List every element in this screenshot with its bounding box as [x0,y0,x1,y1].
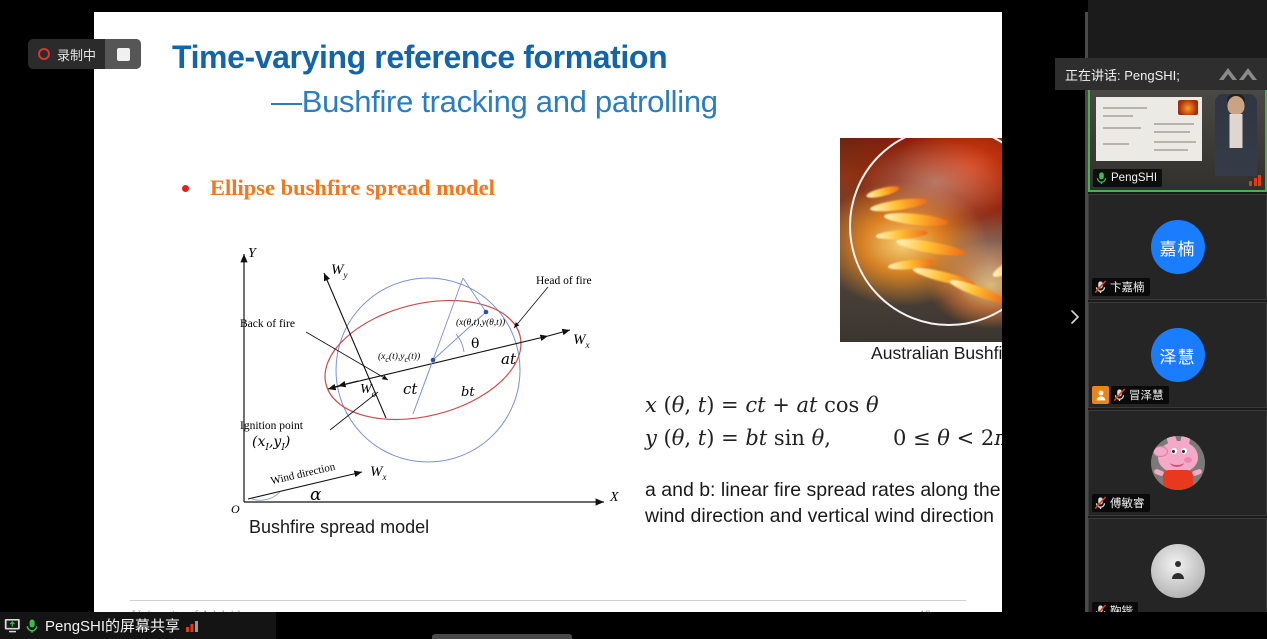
avatar-initials: 嘉楠 [1160,235,1196,260]
equation-x: x (θ, t) = ct + at cos θ [645,393,879,417]
microphone-on-icon [1095,171,1108,185]
avatar-photo-glyph [1169,560,1187,580]
diagram-label-wx-right: Wx [573,332,590,350]
diagram-caption: Bushfire spread model [249,517,429,538]
participant-name: 冒泽慧 [1129,387,1164,403]
microphone-icon [25,618,39,634]
signal-bars-icon [1249,175,1261,186]
slide-footer-divider [130,600,966,601]
diagram-label-axis-x: X [610,490,619,506]
diagram-label-wx-bottom: Wx [370,464,387,482]
equation-y: y (θ, t) = bt sin θ,0 ≤ θ < 2π [645,426,1002,450]
host-person-icon [1092,386,1109,404]
participant-rail: PengSHI 嘉楠 卞嘉楠 泽慧 [1088,0,1267,612]
avatar: 泽慧 [1151,328,1205,382]
recording-indicator[interactable]: 录制中 [28,39,141,69]
share-status-label: PengSHI的屏幕共享 [45,615,180,636]
bushfire-spread-diagram: Y X O Wind direction α Wx Wy Wx Wo Back … [218,240,638,540]
participant-name-badge: 卞嘉楠 [1092,278,1150,296]
photo-caption: Australian Bushfire [840,343,1002,364]
participant-tile-pengshi[interactable]: PengSHI [1088,86,1267,192]
diagram-label-ignition-point: Ignition point [240,420,303,432]
diagram-label-alpha: α [310,485,321,505]
diagram-label-head-of-fire: Head of fire [536,275,592,287]
shared-screen-slide: Time-varying reference formation —Bushfi… [94,12,1002,622]
participant-tile-fuminrui[interactable]: 傅敏睿 [1088,410,1267,516]
avatar-initials: 泽慧 [1160,343,1196,368]
slide-title-line2: —Bushfire tracking and patrolling [271,84,718,120]
avatar [1151,544,1205,598]
diagram-label-wo: Wo [360,382,376,399]
microphone-muted-icon [1094,280,1107,294]
slide-title-line1: Time-varying reference formation [172,39,667,76]
participant-tile-bianjianan[interactable]: 嘉楠 卞嘉楠 [1088,194,1267,300]
participant-name: PengSHI [1111,172,1157,184]
slide-bullet: Ellipse bushfire spread model [182,175,495,201]
diagram-label-center-point: (xc(t),yc(t)) [378,352,420,364]
chevron-right-icon [1070,310,1080,324]
microphone-muted-icon [1094,496,1107,510]
signal-bars-icon [186,619,202,632]
diagram-label-back-of-fire: Back of fire [240,318,295,330]
avatar [1151,436,1205,490]
participant-name-badge: 傅敏睿 [1092,494,1150,512]
participant-name: 卞嘉楠 [1110,279,1145,295]
diagram-label-wy: Wy [331,262,348,280]
bullet-dot-icon [182,185,189,192]
recording-label: 录制中 [57,45,96,64]
bottom-strip [276,612,1267,639]
diagram-label-ct: ct [403,380,417,398]
stop-square-icon [117,48,130,61]
recording-status: 录制中 [28,39,105,69]
screen-share-status-bar[interactable]: PengSHI的屏幕共享 [0,612,276,639]
equation-description: a and b: linear fire spread rates along … [645,478,1002,529]
participant-name: 傅敏睿 [1110,495,1145,511]
diagram-label-at: at [501,350,516,368]
diagram-label-theta-point: (x(θ,t),y(θ,t)) [456,318,505,328]
zoom-meeting-window: Time-varying reference formation —Bushfi… [0,0,1267,639]
zoom-logo-icon [1219,66,1259,82]
avatar: 嘉楠 [1151,220,1205,274]
stop-recording-button[interactable] [105,39,141,69]
diagram-label-origin: O [231,502,240,517]
microphone-muted-icon [1113,388,1126,402]
screen-share-icon [4,618,21,633]
participant-tile-maozehui[interactable]: 泽慧 冒泽慧 [1088,302,1267,408]
participant-tile-jukai[interactable]: 鞠锴 [1088,518,1267,624]
participant-name-badge: PengSHI [1093,169,1162,187]
presenter-figure [1215,94,1257,176]
participant-name-badge: 冒泽慧 [1111,386,1169,404]
record-dot-icon [38,48,50,60]
diagram-label-ignition-coords: (xI,yI) [252,434,290,453]
active-speaker-text: 正在讲话: PengSHI; [1065,65,1180,84]
australian-bushfire-photo [840,138,1002,342]
diagram-label-theta: θ [471,336,479,352]
diagram-label-bt: bt [461,385,475,400]
bullet-label: Ellipse bushfire spread model [210,175,495,201]
projected-slide [1096,97,1202,161]
collapse-panel-button[interactable] [1067,303,1083,331]
bottom-tab-handle[interactable] [432,634,572,639]
diagram-label-axis-y: Y [248,246,256,262]
active-speaker-banner: 正在讲话: PengSHI; [1055,58,1267,90]
